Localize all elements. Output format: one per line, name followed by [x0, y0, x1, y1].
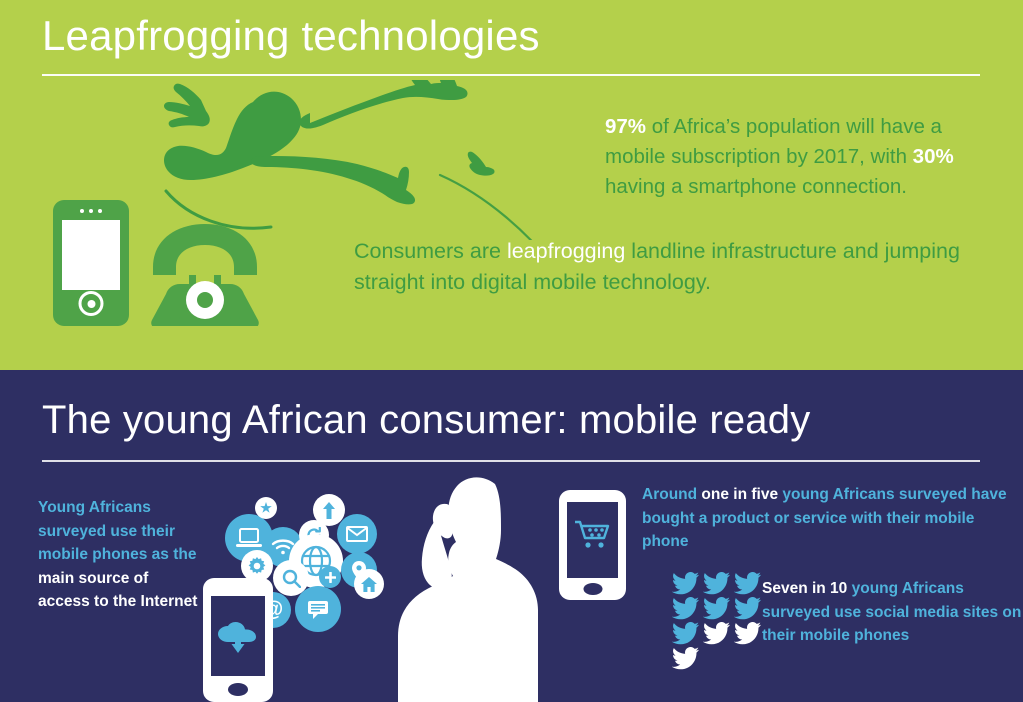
chat-bubble-icon: [295, 586, 341, 632]
person-on-phone-icon: [398, 470, 563, 702]
lead-text-1: Consumers are: [354, 239, 507, 263]
bird-row: [672, 572, 764, 597]
internet-highlight: main source of access to the Internet: [38, 570, 197, 611]
cloud-upload-icon: [218, 622, 258, 659]
twitter-bird-icon: [703, 597, 730, 620]
stat-text-1: of Africa’s population will have a mobil…: [605, 115, 942, 168]
twitter-bird-icon: [734, 572, 761, 595]
landline-telephone-icon: [148, 222, 262, 326]
phone-home-button: [79, 291, 104, 316]
stat-text-2: having a smartphone connection.: [605, 175, 907, 198]
twitter-bird-icon: [672, 572, 699, 595]
home-icon: [354, 569, 384, 599]
title-divider-green: [42, 74, 980, 76]
purchase-text-1: Around: [642, 486, 701, 503]
internet-text-1: Young Africans surveyed use their mobile…: [38, 499, 196, 563]
phone-screen: [62, 220, 120, 290]
africa-mobile-subscription-stat: 97% of Africa’s population will have a m…: [605, 112, 1005, 202]
phone-cloud-upload-icon: [203, 578, 273, 702]
bird-row: [672, 622, 764, 647]
phone-home-button: [583, 583, 602, 595]
envelope-icon: [337, 514, 377, 554]
twitter-bird-icon: [734, 597, 761, 620]
purchase-highlight: one in five: [701, 486, 778, 503]
title-divider-blue: [42, 460, 980, 462]
twitter-bird-icon: [703, 572, 730, 595]
infographic-root: Leapfrogging technologies: [0, 0, 1023, 702]
phone-shopping-cart-icon: [559, 490, 626, 600]
leaping-frog-icon: [70, 80, 590, 240]
stat-highlight-97: 97%: [605, 115, 646, 138]
plus-icon: [319, 566, 341, 588]
social-media-stat: Seven in 10 young Africans surveyed use …: [762, 577, 1022, 648]
speaker-dots: [80, 209, 102, 213]
phone-home-button: [228, 683, 248, 696]
social-highlight: Seven in 10: [762, 580, 847, 597]
internet-access-stat: Young Africans surveyed use their mobile…: [38, 496, 198, 614]
page-title-green: Leapfrogging technologies: [42, 10, 540, 62]
mobile-phone-icon: [53, 200, 129, 326]
star-icon: [255, 497, 277, 519]
twitter-bird-icon-empty: [672, 647, 699, 670]
mobile-purchase-stat: Around one in five young Africans survey…: [642, 483, 1012, 554]
social-media-bird-chart: [672, 572, 764, 672]
stat-highlight-30: 30%: [913, 145, 954, 168]
shopping-cart-icon: [575, 520, 611, 555]
twitter-bird-icon: [672, 597, 699, 620]
leapfrogging-section: Leapfrogging technologies: [0, 0, 1023, 370]
twitter-bird-icon-empty: [703, 622, 730, 645]
bird-row: [672, 597, 764, 622]
twitter-bird-icon: [672, 622, 699, 645]
bird-row: [672, 647, 764, 672]
page-title-blue: The young African consumer: mobile ready: [42, 395, 810, 445]
leapfrogging-lead-text: Consumers are leapfrogging landline infr…: [354, 236, 1004, 298]
lead-highlight-leapfrogging: leapfrogging: [507, 239, 625, 263]
twitter-bird-icon-empty: [734, 622, 761, 645]
